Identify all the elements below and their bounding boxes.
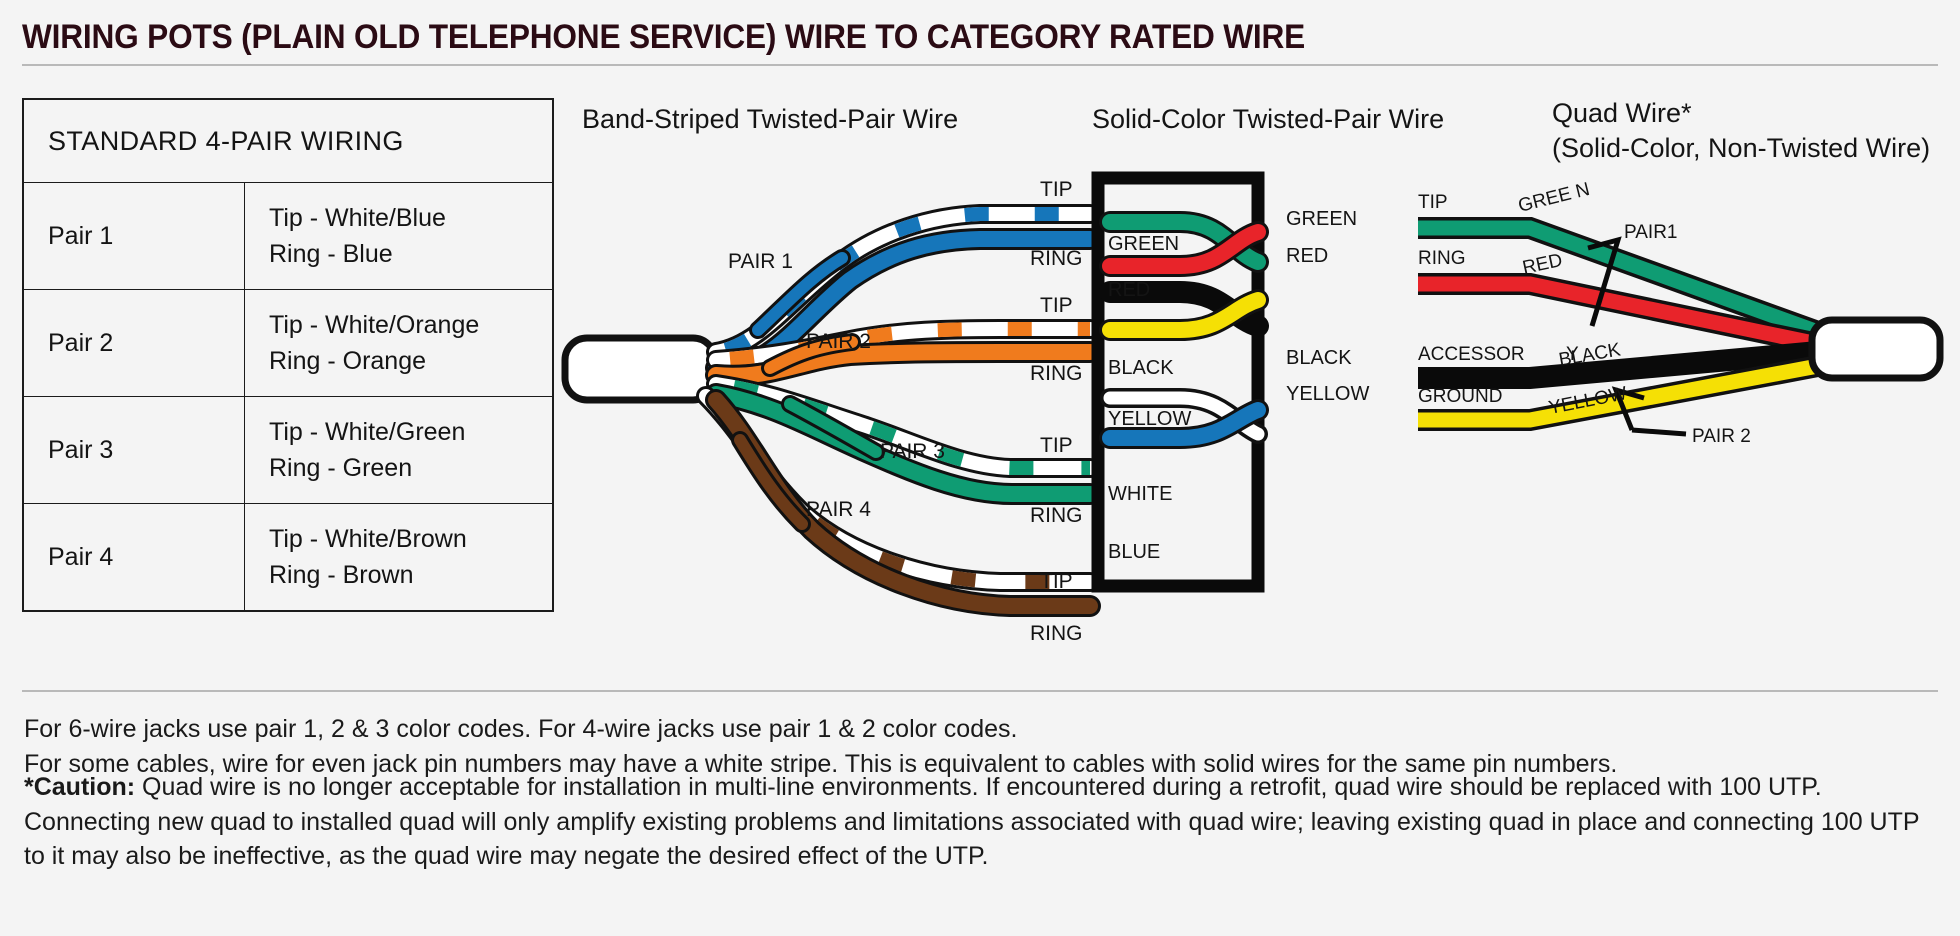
- ring-text: Ring - Green: [269, 450, 552, 486]
- yellow-wire: [1110, 300, 1258, 330]
- red-wire: [1110, 232, 1258, 266]
- blue-wire-outline: [1110, 410, 1258, 438]
- pair-value-cell: Tip - White/Blue Ring - Blue: [245, 183, 554, 290]
- pair-4-wires: PAIR 4 TIP RING: [706, 396, 1090, 645]
- pair-2-ring-core: [716, 352, 1090, 376]
- quad-wire-label-red: RED: [1521, 250, 1565, 279]
- pair-3-label: PAIR 3: [880, 440, 945, 463]
- quad-callout-pair1: PAIR1: [1624, 222, 1678, 243]
- solid-label-black: BLACK: [1108, 357, 1174, 379]
- quad-green-wire: [1418, 228, 1818, 332]
- tip-text: Tip - White/Orange: [269, 307, 552, 343]
- caption-solid-color: Solid-Color Twisted-Pair Wire: [1092, 102, 1444, 137]
- pair2-callout-line: [1632, 430, 1686, 434]
- page-title: WIRING POTS (PLAIN OLD TELEPHONE SERVICE…: [22, 18, 1305, 57]
- pair-name-cell: Pair 3: [23, 397, 245, 504]
- footer-divider: [22, 690, 1938, 692]
- quad-label-accessory: ACCESSOR: [1418, 344, 1525, 365]
- caption-quad-line2: (Solid-Color, Non-Twisted Wire): [1552, 131, 1930, 166]
- yellow-wire-outline: [1110, 300, 1258, 330]
- pair-2-twist-outline: [770, 342, 852, 368]
- pair-1-tip-bands: [716, 214, 1090, 352]
- white-wire-outline: [1110, 398, 1258, 434]
- pair-3-twist: [790, 404, 876, 452]
- caption-quad-wire: Quad Wire* (Solid-Color, Non-Twisted Wir…: [1552, 96, 1930, 165]
- pair-3-twist-outline: [790, 404, 876, 452]
- ring-text: Ring - Orange: [269, 343, 552, 379]
- quad-label-tip: TIP: [1418, 192, 1448, 213]
- white-wire: [1110, 398, 1258, 434]
- black-wire: [1110, 292, 1258, 326]
- quad-black-wire: [1418, 352, 1818, 378]
- green-wire: [1110, 222, 1258, 262]
- pair-1-tip-outline: [716, 214, 1090, 352]
- pair-4-ring-core: [716, 400, 1090, 606]
- pair-2-tip-outline: [716, 329, 1090, 360]
- pair-3-ring-label: RING: [1030, 504, 1083, 527]
- caption-quad-line1: Quad Wire*: [1552, 96, 1930, 131]
- pair-4-tip-core: [706, 396, 1090, 582]
- quad-wire-label-green: GREE N: [1516, 179, 1592, 217]
- pair-2-twist: [770, 342, 852, 368]
- pair-3-ring-outline: [716, 394, 1090, 494]
- pair-2-label: PAIR 2: [806, 330, 871, 353]
- pair-1-tip-core: [716, 214, 1090, 352]
- pair-4-ring-outline: [716, 400, 1090, 606]
- pair-4-tip-bands: [706, 396, 1090, 582]
- solid-label-blue: BLUE: [1108, 541, 1160, 563]
- pair-name-cell: Pair 1: [23, 183, 245, 290]
- red-wire-outline: [1110, 232, 1258, 266]
- table-row: Pair 3 Tip - White/Green Ring - Green: [23, 397, 553, 504]
- pair1-callout-arrow: [1588, 240, 1618, 326]
- ring-text: Ring - Blue: [269, 236, 552, 272]
- pair-1-tip-label: TIP: [1040, 178, 1073, 201]
- tip-text: Tip - White/Green: [269, 414, 552, 450]
- table-row: Pair 2 Tip - White/Orange Ring - Orange: [23, 290, 553, 397]
- pair-1-wires: PAIR 1 TIP RING: [716, 178, 1090, 368]
- pair-1-ring-label: RING: [1030, 247, 1083, 270]
- quad-label-ground: GROUND: [1418, 386, 1502, 407]
- quad-cable-jacket: [1812, 320, 1940, 378]
- pair-name-cell: Pair 4: [23, 504, 245, 612]
- table-header-row: STANDARD 4-PAIR WIRING: [23, 99, 553, 183]
- quad-red-outline: [1418, 284, 1818, 344]
- pair-4-tip-label: TIP: [1040, 570, 1073, 593]
- quad-wire-panel: TIP RING ACCESSOR Y GROUND GREE N RED BL…: [1418, 179, 1940, 447]
- quad-wire-label-black: BLACK: [1557, 339, 1622, 371]
- quad-callout-pair2: PAIR 2: [1692, 426, 1751, 447]
- solid-label-yellow: YELLOW: [1108, 408, 1191, 430]
- pair-1-twist: [758, 258, 842, 330]
- pair-2-ring-outline: [716, 352, 1090, 376]
- pair-1-twist-outline: [758, 258, 842, 330]
- pair-value-cell: Tip - White/Orange Ring - Orange: [245, 290, 554, 397]
- solid-label-white: WHITE: [1108, 483, 1172, 505]
- table-row: Pair 4 Tip - White/Brown Ring - Brown: [23, 504, 553, 612]
- standard-4-pair-wiring-table: STANDARD 4-PAIR WIRING Pair 1 Tip - Whit…: [22, 98, 554, 612]
- quad-wire-label-yellow: YELLOW: [1547, 383, 1629, 419]
- pair-4-twist: [740, 440, 802, 524]
- quad-red-wire: [1418, 284, 1818, 344]
- pair-2-tip-bands: [716, 329, 1090, 360]
- caption-band-striped: Band-Striped Twisted-Pair Wire: [582, 102, 958, 137]
- quad-green-outline: [1418, 228, 1818, 332]
- pair-3-tip-bands: [716, 384, 1090, 468]
- tip-text: Tip - White/Blue: [269, 200, 552, 236]
- pair-3-wires: PAIR 3 TIP RING: [716, 384, 1090, 527]
- pair-1-ring-core: [716, 239, 1090, 368]
- ring-text: Ring - Brown: [269, 557, 552, 593]
- pair-4-ring-label: RING: [1030, 622, 1083, 645]
- cable-jacket: [565, 338, 715, 400]
- diagram-page: WIRING POTS (PLAIN OLD TELEPHONE SERVICE…: [0, 0, 1960, 936]
- caution-label: *Caution:: [24, 773, 135, 801]
- table-row: Pair 1 Tip - White/Blue Ring - Blue: [23, 183, 553, 290]
- pair-3-tip-outline: [716, 384, 1090, 468]
- pair-2-ring-label: RING: [1030, 362, 1083, 385]
- pair-2-wires: PAIR 2 TIP RING: [716, 294, 1090, 385]
- pair-name-cell: Pair 2: [23, 290, 245, 397]
- quad-label-accessory-tail: Y: [1566, 344, 1579, 365]
- pair-value-cell: Tip - White/Brown Ring - Brown: [245, 504, 554, 612]
- pair-4-tip-outline: [706, 396, 1090, 582]
- solid-out-label-red: RED: [1286, 245, 1328, 267]
- pair-1-ring-outline: [716, 239, 1090, 368]
- solid-out-label-green: GREEN: [1286, 208, 1357, 230]
- pair-3-ring-core: [716, 394, 1090, 494]
- blue-wire: [1110, 410, 1258, 438]
- caution-note: *Caution: Quad wire is no longer accepta…: [24, 770, 1924, 874]
- caution-text: Quad wire is no longer acceptable for in…: [24, 773, 1919, 870]
- solid-label-red: RED: [1108, 279, 1150, 301]
- tip-text: Tip - White/Brown: [269, 521, 552, 557]
- pair-2-tip-core: [716, 329, 1090, 360]
- solid-color-panel: GREEN RED BLACK YELLOW WHITE BLUE GREEN …: [1098, 178, 1369, 586]
- pair-4-label: PAIR 4: [806, 498, 871, 521]
- pair-3-tip-label: TIP: [1040, 434, 1073, 457]
- pair2-callout-arrow: [1616, 390, 1644, 430]
- pair-3-tip-core: [716, 384, 1090, 468]
- pair-1-label: PAIR 1: [728, 250, 793, 273]
- table-header-cell: STANDARD 4-PAIR WIRING: [23, 99, 553, 183]
- solid-color-box: [1098, 178, 1258, 586]
- header-divider: [22, 64, 1938, 66]
- pair-value-cell: Tip - White/Green Ring - Green: [245, 397, 554, 504]
- solid-label-green: GREEN: [1108, 233, 1179, 255]
- quad-yellow-outline: [1418, 366, 1818, 420]
- solid-out-label-yellow: YELLOW: [1286, 383, 1369, 405]
- footer-line-1: For 6-wire jacks use pair 1, 2 & 3 color…: [24, 712, 1924, 747]
- band-striped-panel: PAIR 1 TIP RING PAIR 2 TIP RING: [565, 178, 1090, 645]
- pair-2-tip-label: TIP: [1040, 294, 1073, 317]
- green-wire-outline: [1110, 222, 1258, 262]
- pair-4-twist-outline: [740, 440, 802, 524]
- solid-out-label-black: BLACK: [1286, 347, 1352, 369]
- quad-label-ring: RING: [1418, 248, 1466, 269]
- quad-yellow-wire: [1418, 366, 1818, 420]
